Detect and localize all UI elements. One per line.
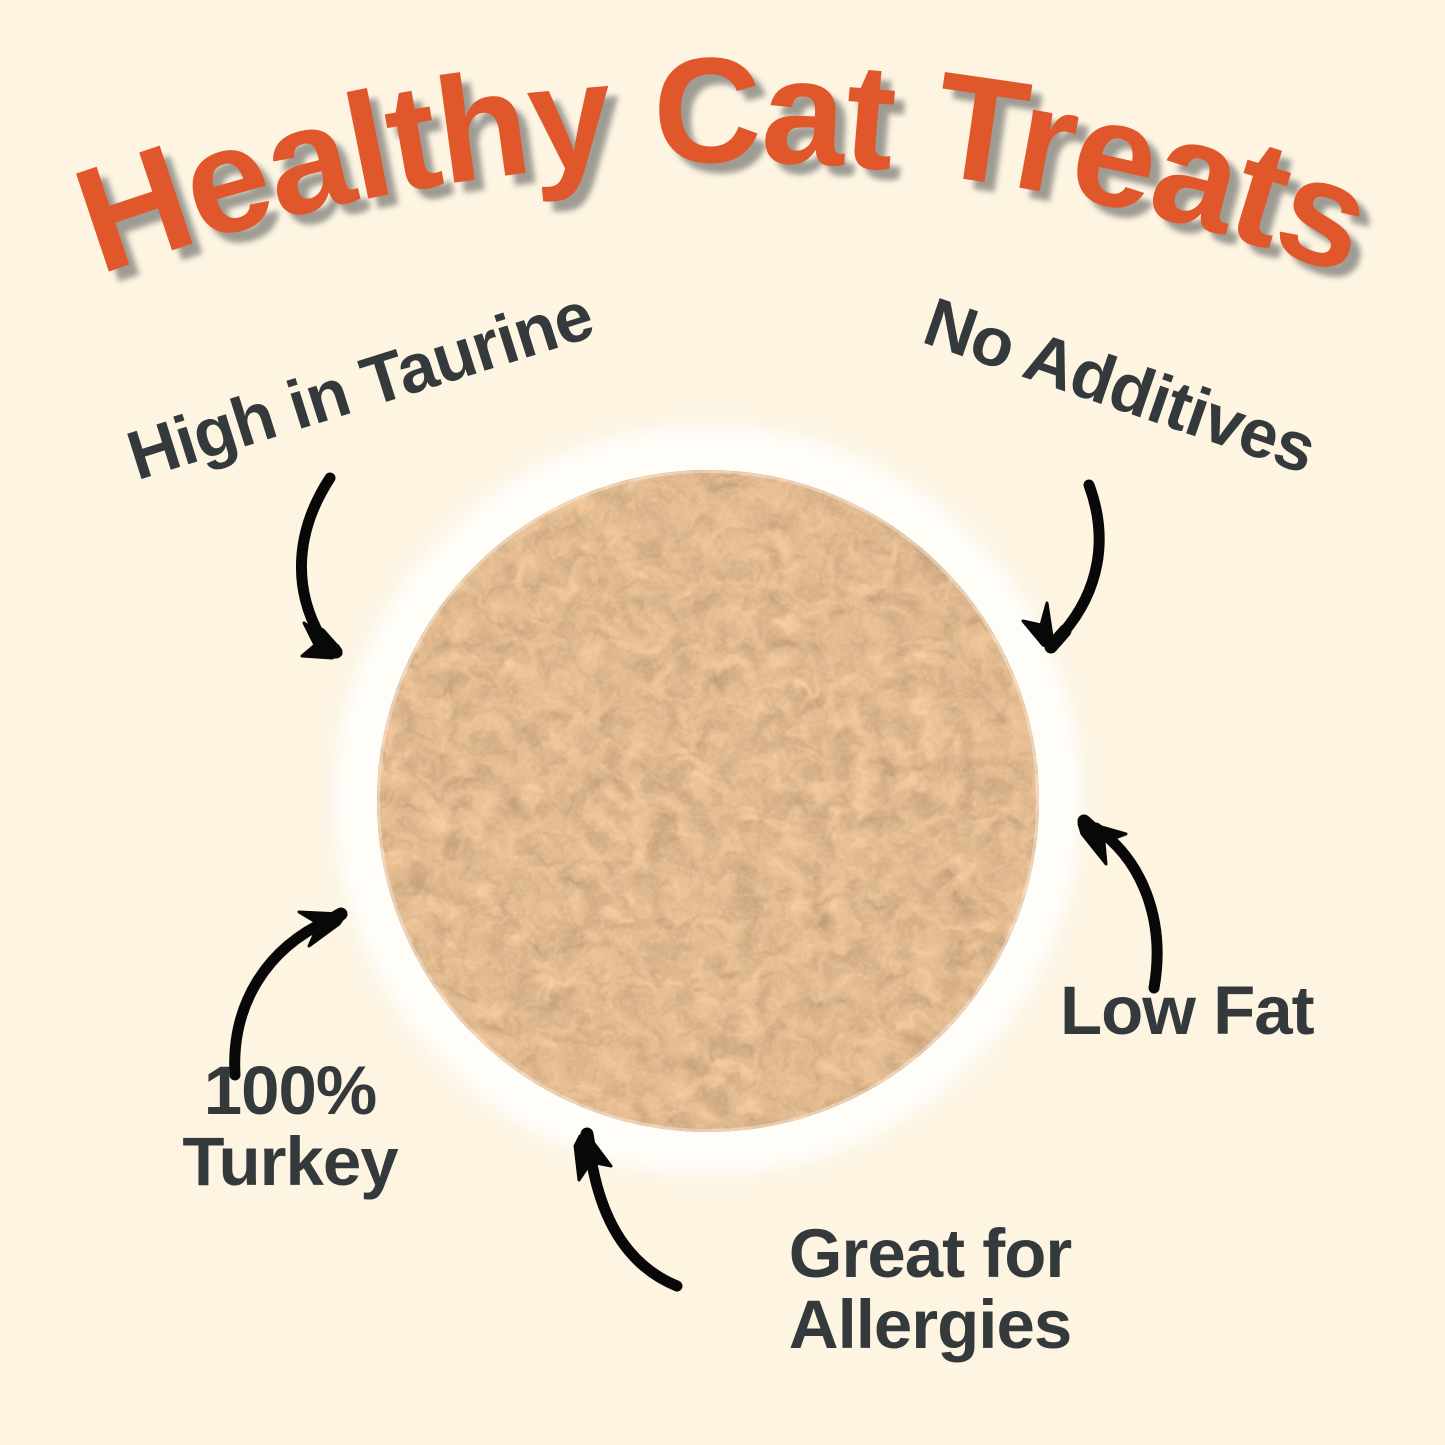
feature-label-no-additives: No Additives <box>834 258 1406 514</box>
feature-label-great-for-allergies: Great for Allergies <box>700 1218 1160 1360</box>
feature-label-low-fat: Low Fat <box>1060 975 1430 1046</box>
infographic-canvas: Healthy Cat Treats Healthy Cat Treats <box>0 0 1445 1445</box>
turkey-treats-texture <box>377 470 1039 1132</box>
headline-arc-svg: Healthy Cat Treats Healthy Cat Treats <box>0 0 1445 330</box>
feature-label-100-percent-turkey: 100% Turkey <box>120 1055 460 1197</box>
headline-text: Healthy Cat Treats <box>56 26 1389 306</box>
product-photo <box>377 470 1039 1132</box>
headline-shadow: Healthy Cat Treats <box>66 36 1399 316</box>
headline-container: Healthy Cat Treats Healthy Cat Treats <box>0 0 1445 330</box>
headline-shadow-textpath: Healthy Cat Treats <box>66 36 1399 316</box>
headline-main-textpath: Healthy Cat Treats <box>56 26 1389 306</box>
